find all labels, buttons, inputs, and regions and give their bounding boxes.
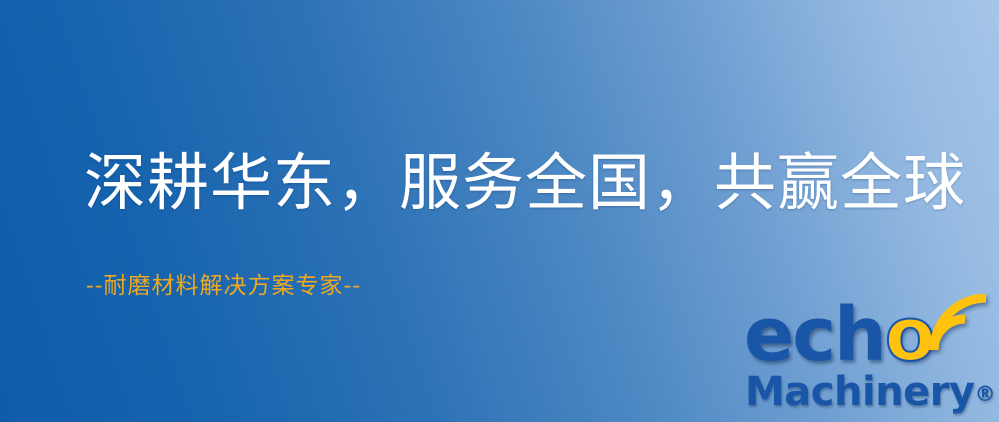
logo-echo-letters: ech [744, 292, 885, 378]
registered-trademark-icon: ® [975, 382, 996, 406]
logo-letter-o: o [885, 292, 934, 378]
banner-subtitle: --耐磨材料解决方案专家-- [86, 266, 361, 300]
logo-mark: echo [742, 296, 994, 380]
logo-machinery-text: Machinery [745, 369, 975, 415]
signal-arcs-icon [928, 294, 994, 356]
logo-echo-wordmark: echo [744, 298, 934, 372]
logo-machinery-wordmark: Machinery® [745, 372, 996, 414]
promo-banner: 深耕华东，服务全国，共赢全球 --耐磨材料解决方案专家-- echo Machi [0, 0, 999, 422]
company-logo: echo Machinery® [742, 296, 994, 418]
banner-headline: 深耕华东，服务全国，共赢全球 [84, 148, 966, 217]
